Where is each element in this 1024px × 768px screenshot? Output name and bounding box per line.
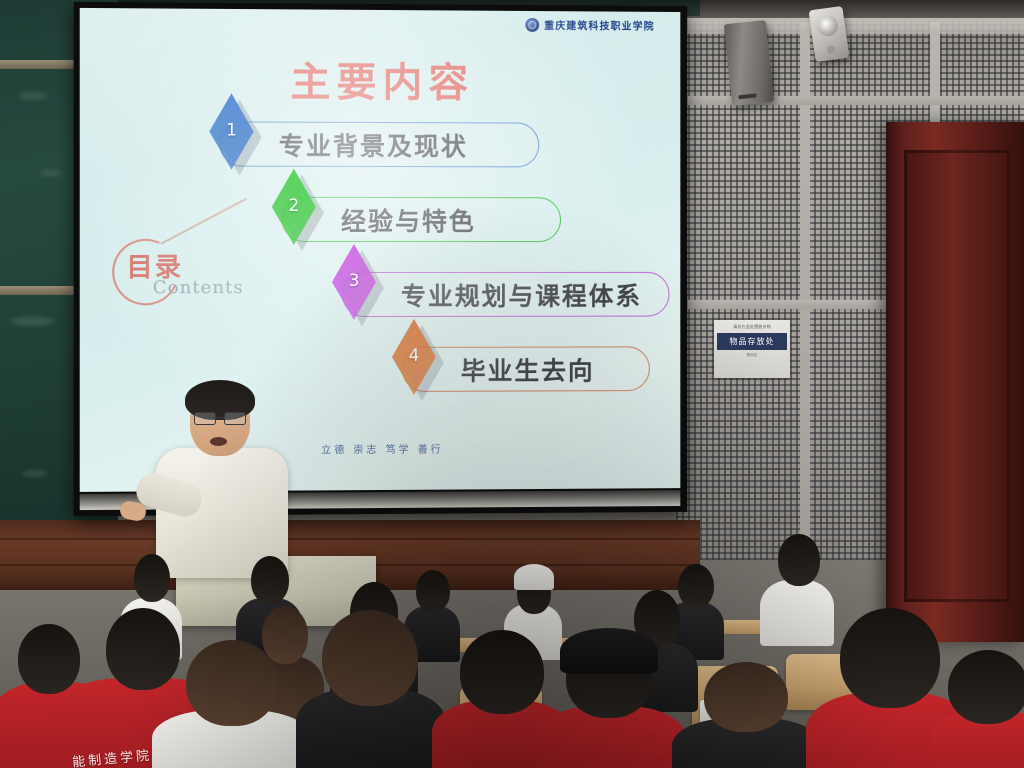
agenda-number-2: 2 — [288, 196, 299, 216]
audience-area: 能制造学院 — [0, 520, 1024, 768]
school-crest-icon — [525, 17, 539, 31]
agenda-row: 经验与特色 2 — [80, 184, 681, 260]
audience-person-front — [152, 640, 312, 768]
agenda-row: 专业背景及现状 1 — [80, 109, 681, 186]
slide-header: 重庆建筑科技职业学院 — [525, 17, 654, 33]
agenda-label-3: 专业规划与课程体系 — [343, 276, 642, 312]
audience-person-front — [930, 650, 1024, 768]
white-cap-icon — [514, 564, 554, 590]
panel-seam — [800, 0, 810, 560]
audience-person-front — [536, 642, 686, 768]
wall-speaker-box-icon — [724, 20, 774, 106]
audience-person-front — [672, 662, 822, 768]
school-name-label: 重庆建筑科技职业学院 — [544, 17, 655, 33]
agenda-bar-2: 经验与特色 — [282, 197, 561, 242]
agenda-number-1: 1 — [226, 120, 237, 140]
lecture-hall-photo: 请勿在此处摆放杂物 物品存放处 教务处 重庆建筑科技职业学院 主要内容 目录 — [0, 0, 1024, 768]
agenda-bar-1: 专业背景及现状 — [219, 121, 539, 167]
wall-sign: 请勿在此处摆放杂物 物品存放处 教务处 — [714, 320, 790, 378]
audience-person-front — [296, 610, 446, 768]
agenda-number-3: 3 — [349, 271, 360, 291]
wall-speaker-round-icon — [809, 6, 850, 62]
agenda-bar-3: 专业规划与课程体系 — [342, 272, 670, 317]
slide-agenda-list: 专业背景及现状 1 经验与特色 2 — [80, 109, 681, 411]
wall-sign-top-note: 请勿在此处摆放杂物 — [717, 324, 787, 329]
black-cap-icon — [560, 628, 658, 674]
wall-sign-main-text: 物品存放处 — [717, 333, 787, 350]
panel-seam — [676, 96, 1024, 105]
presenter-mouth — [210, 437, 227, 446]
slide-title: 主要内容 — [80, 48, 681, 109]
glasses-icon — [194, 412, 246, 423]
agenda-number-4: 4 — [409, 346, 420, 366]
speaker-cone — [817, 15, 840, 38]
agenda-row: 专业规划与课程体系 3 — [80, 260, 681, 336]
speaker-tweeter — [827, 45, 836, 54]
wall-sign-bottom-note: 教务处 — [717, 353, 787, 358]
